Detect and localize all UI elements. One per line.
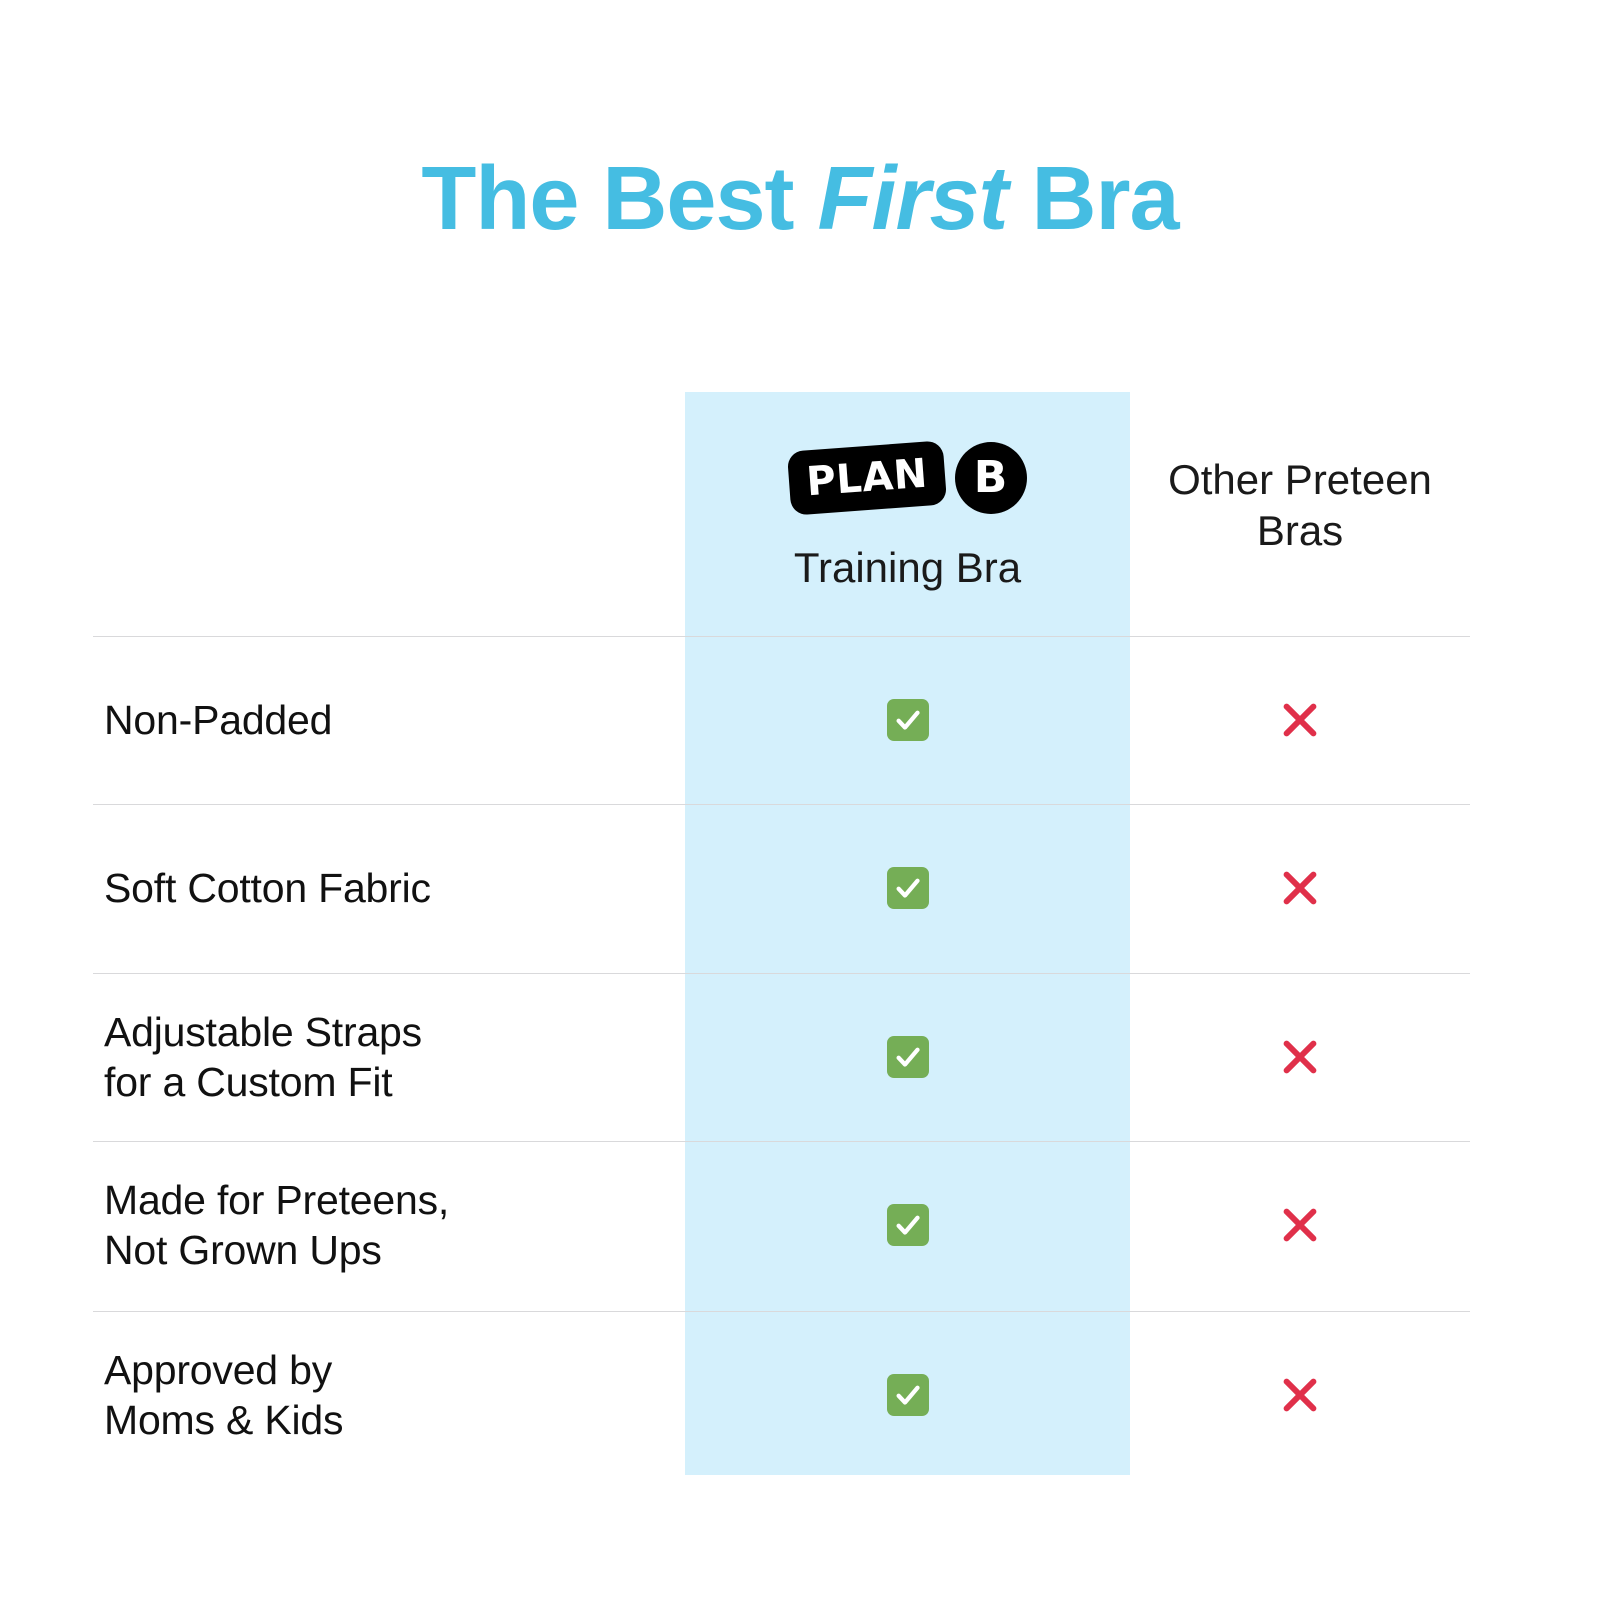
column-header-other: Other Preteen Bras bbox=[1130, 400, 1470, 636]
check-mark-icon bbox=[887, 699, 929, 741]
cell-other bbox=[1130, 636, 1470, 804]
cell-plan-b bbox=[685, 636, 1130, 804]
column-header-plan-b: PLAN B Training Bra bbox=[685, 400, 1130, 636]
column-header-other-label: Other Preteen Bras bbox=[1135, 454, 1465, 556]
comparison-table: PLAN B Training Bra Other Preteen Bras N… bbox=[0, 0, 1600, 1600]
cell-other bbox=[1130, 1311, 1470, 1479]
logo-b-text: B bbox=[955, 442, 1027, 514]
check-mark-icon bbox=[887, 1204, 929, 1246]
cross-mark-icon bbox=[1277, 1034, 1323, 1080]
cell-plan-b bbox=[685, 973, 1130, 1141]
check-mark-icon bbox=[887, 867, 929, 909]
cell-other bbox=[1130, 1141, 1470, 1309]
cross-mark-icon bbox=[1277, 1372, 1323, 1418]
row-label: Non-Padded bbox=[104, 636, 664, 804]
row-label: Approved by Moms & Kids bbox=[104, 1311, 664, 1479]
plan-b-logo: PLAN B bbox=[789, 434, 1027, 522]
row-label: Soft Cotton Fabric bbox=[104, 804, 664, 972]
cross-mark-icon bbox=[1277, 697, 1323, 743]
check-mark-icon bbox=[887, 1036, 929, 1078]
check-mark-icon bbox=[887, 1374, 929, 1416]
comparison-infographic: The Best First Bra PLAN B Training Bra O… bbox=[0, 0, 1600, 1600]
column-header-plan-b-label: Training Bra bbox=[794, 544, 1021, 592]
cross-mark-icon bbox=[1277, 865, 1323, 911]
table-row: Non-Padded bbox=[93, 636, 1470, 804]
cell-other bbox=[1130, 973, 1470, 1141]
table-header-row: PLAN B Training Bra Other Preteen Bras bbox=[93, 400, 1470, 636]
logo-plan-text: PLAN bbox=[786, 440, 946, 515]
cross-mark-icon bbox=[1277, 1202, 1323, 1248]
cell-plan-b bbox=[685, 1141, 1130, 1309]
table-row: Made for Preteens, Not Grown Ups bbox=[93, 1141, 1470, 1309]
cell-plan-b bbox=[685, 1311, 1130, 1479]
row-label: Adjustable Straps for a Custom Fit bbox=[104, 973, 664, 1141]
row-label: Made for Preteens, Not Grown Ups bbox=[104, 1141, 664, 1309]
cell-other bbox=[1130, 804, 1470, 972]
cell-plan-b bbox=[685, 804, 1130, 972]
table-row: Soft Cotton Fabric bbox=[93, 804, 1470, 972]
table-row: Adjustable Straps for a Custom Fit bbox=[93, 973, 1470, 1141]
table-row: Approved by Moms & Kids bbox=[93, 1311, 1470, 1479]
